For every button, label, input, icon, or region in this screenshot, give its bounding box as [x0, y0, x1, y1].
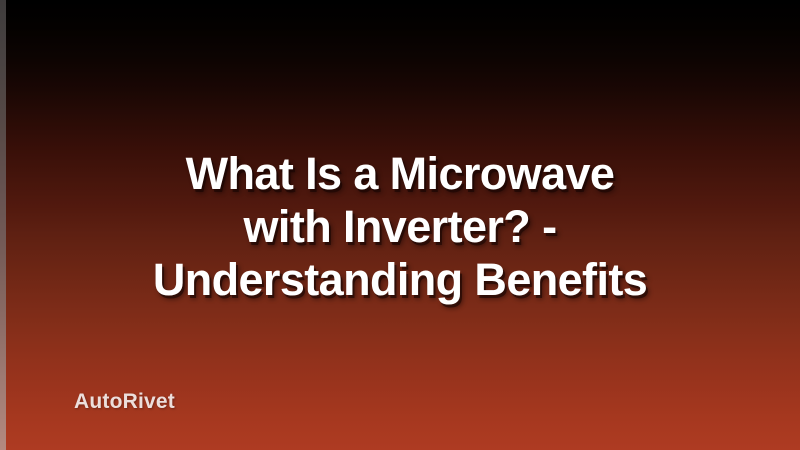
headline-line-3: Understanding Benefits [26, 253, 774, 306]
headline-line-1: What Is a Microwave [26, 147, 774, 200]
headline-line-2: with Inverter? - [26, 200, 774, 253]
article-hero-card: What Is a Microwave with Inverter? - Und… [0, 0, 800, 450]
page-title: What Is a Microwave with Inverter? - Und… [0, 147, 800, 306]
brand-wordmark: AutoRivet [74, 390, 175, 414]
